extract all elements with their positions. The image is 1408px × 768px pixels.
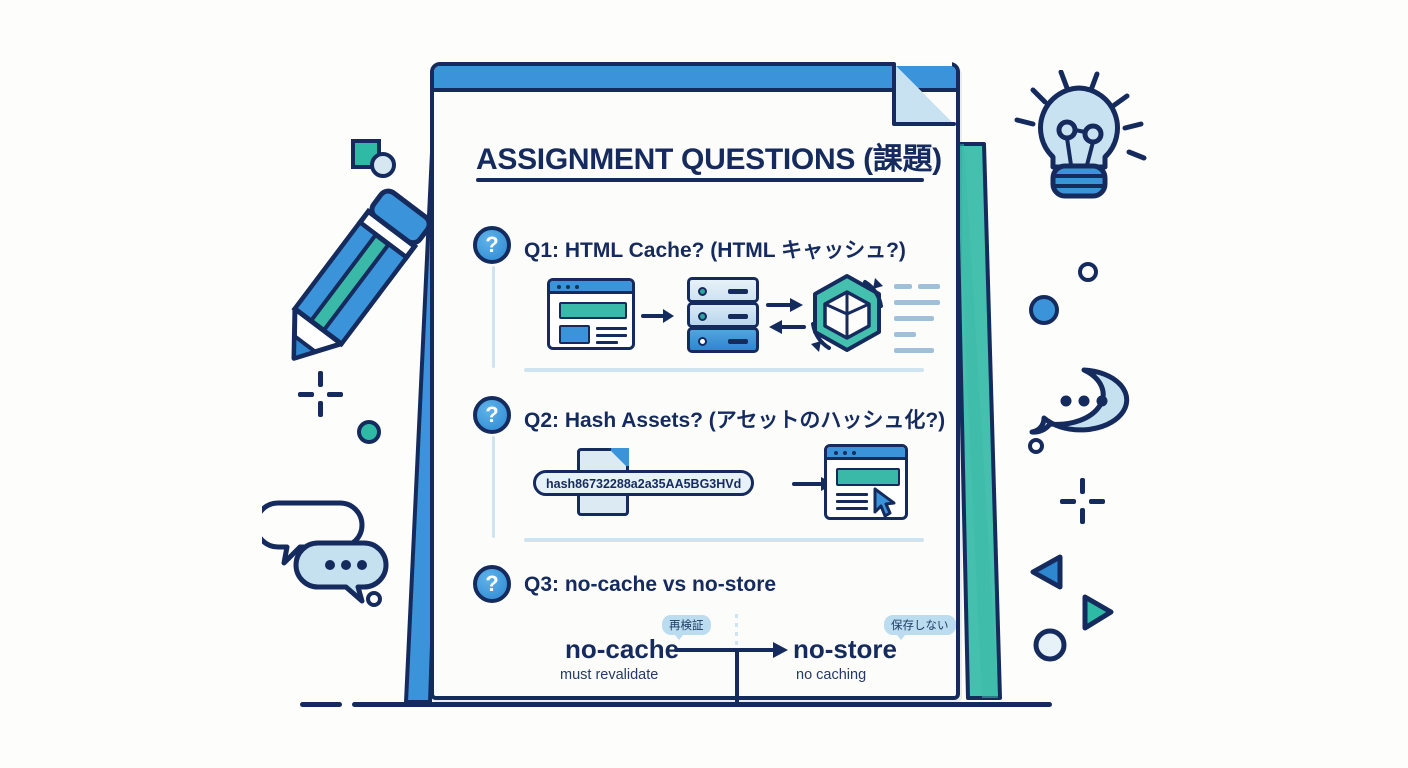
lightbulb-icon xyxy=(1005,70,1155,225)
easel-baseline xyxy=(352,702,1052,707)
document-topbar xyxy=(434,66,956,92)
left-sub: must revalidate xyxy=(560,667,658,683)
sparkle-dash-bottom xyxy=(318,401,323,417)
section-divider-2 xyxy=(524,538,924,542)
window-dot-2 xyxy=(843,451,847,455)
window-dot-2 xyxy=(566,285,570,289)
text-line-6 xyxy=(894,348,934,353)
server-slot-2 xyxy=(728,314,748,319)
server-unit-1 xyxy=(687,277,759,303)
text-line-3 xyxy=(894,300,940,305)
question-mark-icon: ? xyxy=(485,573,498,595)
easel-baseline-stub xyxy=(300,702,342,707)
right-sub: no caching xyxy=(796,667,866,683)
browser-text-line-3 xyxy=(836,507,868,510)
cursor-pointer-icon xyxy=(871,487,899,519)
browser-hero-block xyxy=(559,302,627,319)
sparkle-dash-left xyxy=(298,392,314,397)
right-jp-badge: 保存しない xyxy=(884,615,956,635)
browser-text-line-2 xyxy=(836,500,868,503)
sparkle-dash-left xyxy=(1060,499,1076,504)
browser-text-line-3 xyxy=(596,341,618,344)
text-line-5 xyxy=(894,332,916,337)
illustration-canvas: ASSIGNMENT QUESTIONS (課題) ? Q1: HTML Cac… xyxy=(0,0,1408,768)
window-dot-1 xyxy=(557,285,561,289)
server-slot-3 xyxy=(728,339,748,344)
sparkle-dash-right xyxy=(1089,499,1105,504)
server-slot-1 xyxy=(728,289,748,294)
question-title-q3: Q3: no-cache vs no-store xyxy=(524,573,776,597)
browser-thumb-block xyxy=(559,325,590,344)
sparkle-dash-top xyxy=(1080,478,1085,494)
pencil-icon xyxy=(278,180,428,385)
blue-dot-icon xyxy=(1026,292,1062,328)
browser-window-icon xyxy=(547,278,635,350)
title-underline xyxy=(476,178,924,182)
browser-titlebar xyxy=(827,447,905,460)
text-line-1 xyxy=(894,284,912,289)
triangle-right-icon xyxy=(1078,592,1116,634)
question-badge-q1[interactable]: ? xyxy=(473,226,511,264)
chat-bubble-dots-icon xyxy=(1026,362,1141,462)
window-dot-3 xyxy=(575,285,579,289)
question-connector-1 xyxy=(492,266,495,368)
right-term: no-store xyxy=(793,634,897,665)
exchange-arrows-icon xyxy=(765,292,807,340)
circle-outline-icon xyxy=(1030,625,1070,665)
server-led-1 xyxy=(698,287,707,296)
browser-text-line-2 xyxy=(596,334,627,337)
sparkle-dash-right xyxy=(327,392,343,397)
text-line-2 xyxy=(918,284,940,289)
left-term: no-cache xyxy=(565,634,679,665)
browser-text-line-1 xyxy=(596,327,627,330)
server-unit-2 xyxy=(687,302,759,328)
arrow-right-icon xyxy=(641,306,679,326)
page-title: ASSIGNMENT QUESTIONS (課題) xyxy=(476,134,942,178)
window-dot-1 xyxy=(834,451,838,455)
browser-text-line-1 xyxy=(836,493,868,496)
browser-window-cursor-icon xyxy=(824,444,908,520)
question-title-q1: Q1: HTML Cache? (HTML キャッシュ?) xyxy=(524,234,906,264)
file-fold-corner xyxy=(608,448,629,469)
comparison-arrow-icon xyxy=(674,640,794,660)
sparkle-dash-bottom xyxy=(1080,508,1085,524)
hash-pill: hash86732288a2a35AA5BG3HVd xyxy=(533,470,754,496)
left-jp-badge: 再検証 xyxy=(662,615,711,635)
browser-hero-block xyxy=(836,468,900,486)
sparkle-dash-top xyxy=(318,371,323,387)
teal-dot-icon xyxy=(355,418,383,446)
document-sheet: ASSIGNMENT QUESTIONS (課題) ? Q1: HTML Cac… xyxy=(430,62,960,700)
question-mark-icon: ? xyxy=(485,404,498,426)
square-circle-icon xyxy=(350,138,398,184)
server-unit-3 xyxy=(687,327,759,353)
cdn-hexagon-cube-icon xyxy=(805,272,889,358)
question-mark-icon: ? xyxy=(485,234,498,256)
question-badge-q3[interactable]: ? xyxy=(473,565,511,603)
page-fold-icon xyxy=(886,62,960,136)
triangle-left-icon xyxy=(1028,552,1066,592)
speech-bubbles-icon xyxy=(262,495,392,610)
server-led-3 xyxy=(698,337,707,346)
question-title-q2: Q2: Hash Assets? (アセットのハッシュ化?) xyxy=(524,404,945,434)
question-badge-q2[interactable]: ? xyxy=(473,396,511,434)
question-connector-2 xyxy=(492,436,495,538)
comparison-axis xyxy=(735,648,739,706)
small-circle-icon xyxy=(1074,258,1102,286)
section-divider-1 xyxy=(524,368,924,372)
server-led-2 xyxy=(698,312,707,321)
window-dot-3 xyxy=(852,451,856,455)
browser-titlebar xyxy=(550,281,632,294)
text-line-4 xyxy=(894,316,934,321)
